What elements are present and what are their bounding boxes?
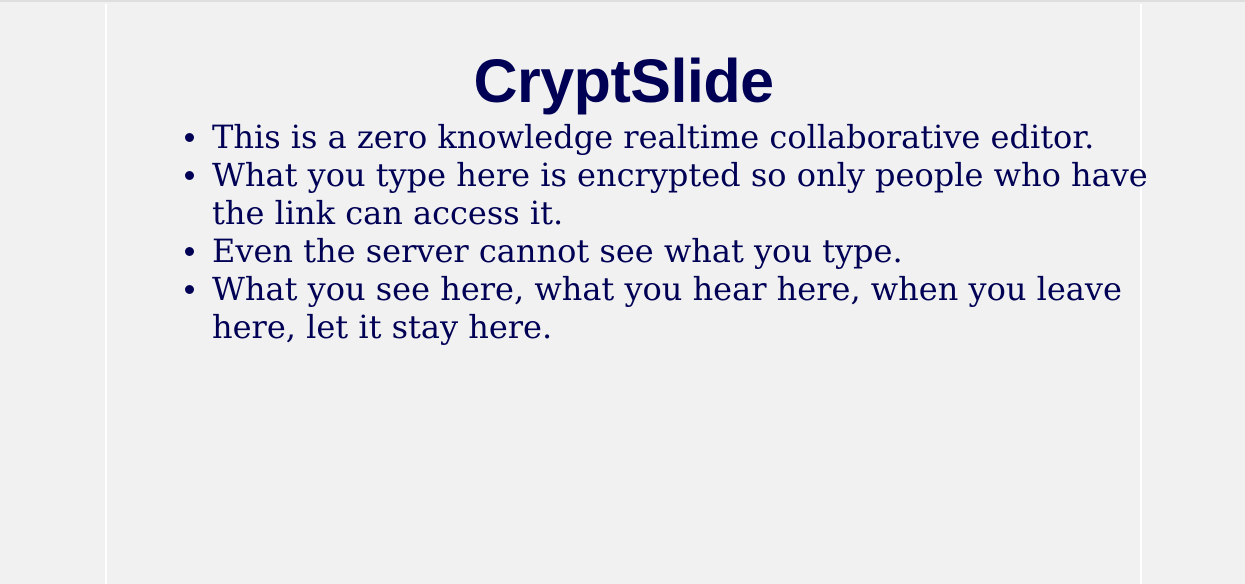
list-item-text[interactable]: Even the server cannot see what you type… (212, 232, 1167, 270)
slide-bullet-list[interactable]: This is a zero knowledge realtime collab… (107, 118, 1167, 346)
left-gutter (0, 4, 105, 584)
list-item[interactable]: What you type here is encrypted so only … (177, 156, 1167, 232)
list-item-text[interactable]: What you type here is encrypted so only … (212, 156, 1167, 232)
list-item[interactable]: What you see here, what you hear here, w… (177, 270, 1167, 346)
bullet-dot-icon (185, 247, 194, 256)
list-item-text[interactable]: What you see here, what you hear here, w… (212, 270, 1167, 346)
slide-canvas[interactable]: CryptSlide This is a zero knowledge real… (107, 4, 1140, 584)
slide-title[interactable]: CryptSlide (107, 46, 1140, 116)
list-item[interactable]: This is a zero knowledge realtime collab… (177, 118, 1167, 156)
list-item-text[interactable]: This is a zero knowledge realtime collab… (212, 118, 1167, 156)
bullet-dot-icon (185, 133, 194, 142)
bullet-dot-icon (185, 285, 194, 294)
slide-viewport: CryptSlide This is a zero knowledge real… (0, 0, 1245, 584)
list-item[interactable]: Even the server cannot see what you type… (177, 232, 1167, 270)
bullet-dot-icon (185, 171, 194, 180)
